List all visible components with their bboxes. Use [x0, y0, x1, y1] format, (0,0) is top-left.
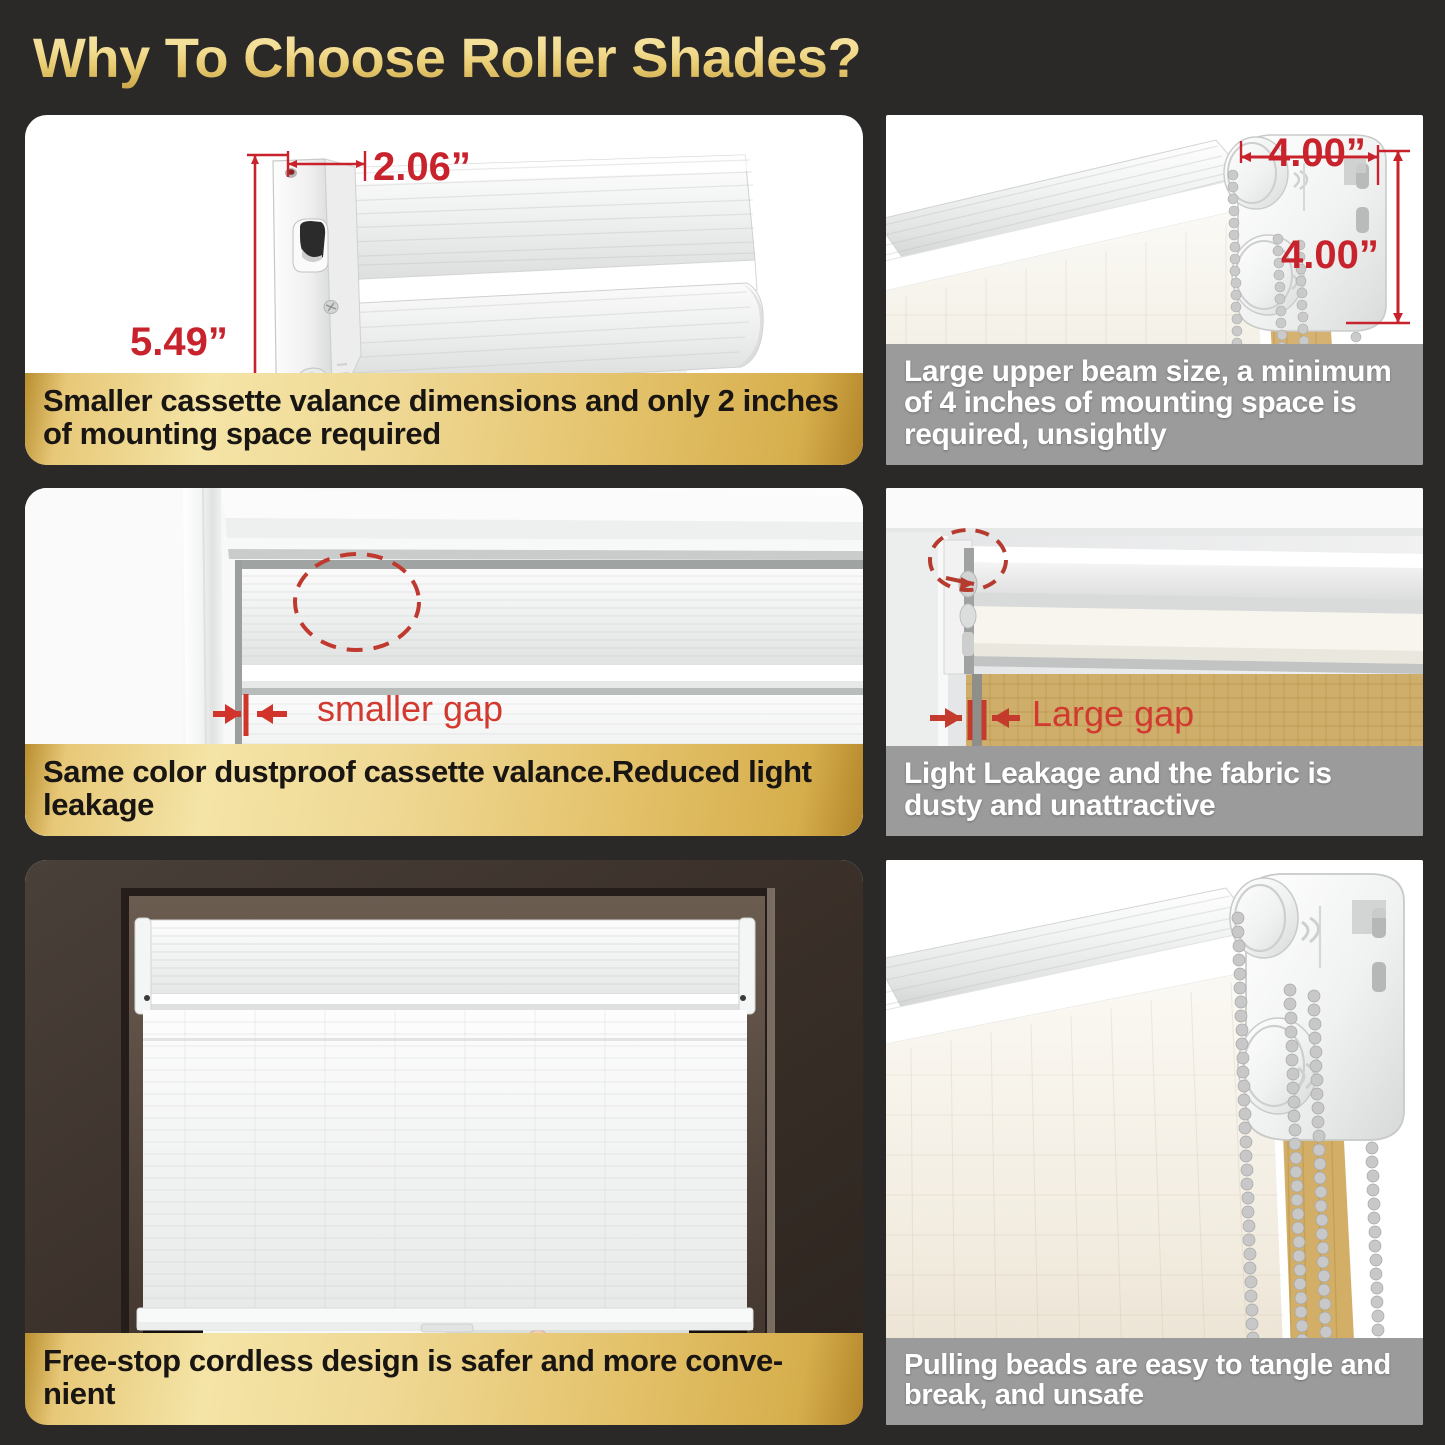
- dimension-label-width-400: 4.00”: [1268, 131, 1366, 176]
- caption-large-beam: Large upper beam size, a minimum of 4 in…: [886, 344, 1423, 465]
- panel-cordless-window: Free-stop cordless design is safer and m…: [25, 860, 863, 1425]
- panel-large-beam-dimensions: 4.00” 4.00” Large upper beam size, a min…: [886, 115, 1423, 465]
- caption-pulling-beads: Pulling beads are easy to tangle and bre…: [886, 1338, 1423, 1425]
- caption-smaller-gap: Same color dustproof cassette valance.Re…: [25, 744, 863, 836]
- caption-large-gap: Light Leakage and the fabric is dusty an…: [886, 746, 1423, 836]
- title-bar: Why To Choose Roller Shades?: [0, 0, 1445, 100]
- panel-pulling-beads: Pulling beads are easy to tangle and bre…: [886, 860, 1423, 1425]
- dimension-label-height-549: 5.49”: [130, 320, 228, 365]
- panel-large-gap: Large gap Light Leakage and the fabric i…: [886, 488, 1423, 836]
- dimension-label-width-206: 2.06”: [373, 145, 471, 190]
- panel-cassette-dimensions: 2.06” 5.49” Smaller cassette valance dim…: [25, 115, 863, 465]
- caption-cassette-dimensions: Smaller cassette valance dimensions and …: [25, 373, 863, 465]
- annotation-large-gap: Large gap: [1032, 693, 1194, 735]
- dimension-label-height-400: 4.00”: [1281, 233, 1379, 278]
- page-title: Why To Choose Roller Shades?: [33, 25, 861, 90]
- panel-smaller-gap: smaller gap Same color dustproof cassett…: [25, 488, 863, 836]
- annotation-smaller-gap: smaller gap: [317, 688, 503, 730]
- caption-cordless-window: Free-stop cordless design is safer and m…: [25, 1333, 863, 1425]
